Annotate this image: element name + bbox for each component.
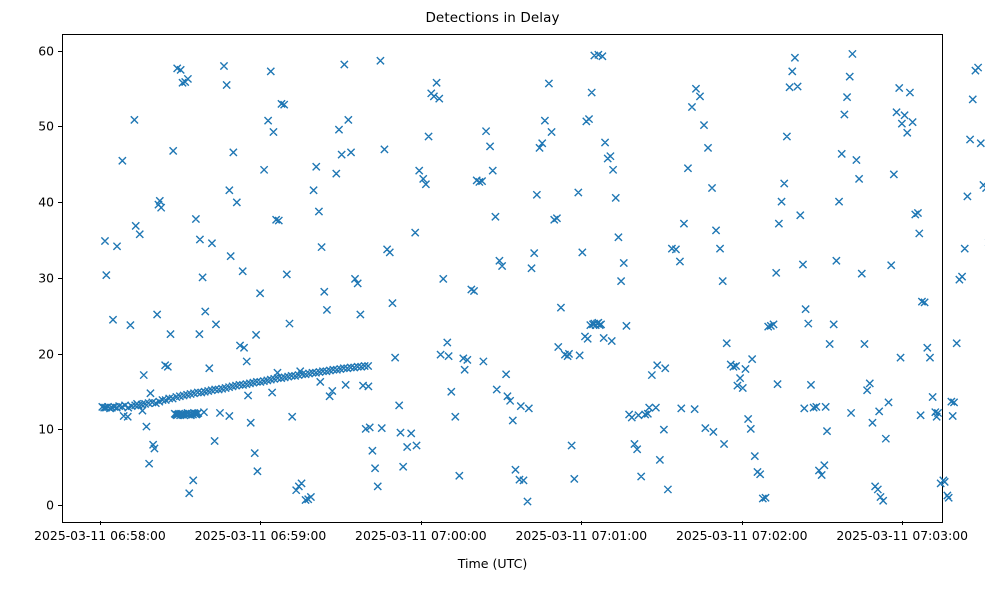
- x-tick-label: 2025-03-11 07:01:00: [516, 528, 648, 543]
- y-tick-label: 60: [10, 43, 54, 58]
- x-tick-label: 2025-03-11 07:02:00: [676, 528, 808, 543]
- x-tick-mark: [260, 521, 261, 525]
- y-tick-mark: [58, 126, 62, 127]
- y-tick-label: 10: [10, 422, 54, 437]
- x-tick-mark: [581, 521, 582, 525]
- x-tick-mark: [100, 521, 101, 525]
- y-tick-mark: [58, 51, 62, 52]
- y-tick-mark: [58, 429, 62, 430]
- scatter-points-layer: [63, 35, 942, 522]
- y-tick-label: 40: [10, 195, 54, 210]
- y-tick-mark: [58, 505, 62, 506]
- x-tick-mark: [742, 521, 743, 525]
- y-tick-mark: [58, 354, 62, 355]
- x-tick-label: 2025-03-11 07:03:00: [836, 528, 968, 543]
- x-tick-mark: [421, 521, 422, 525]
- x-tick-label: 2025-03-11 06:59:00: [195, 528, 327, 543]
- y-tick-label: 30: [10, 270, 54, 285]
- y-tick-label: 20: [10, 346, 54, 361]
- y-tick-label: 50: [10, 119, 54, 134]
- x-tick-label: 2025-03-11 06:58:00: [34, 528, 166, 543]
- y-tick-mark: [58, 202, 62, 203]
- matplotlib-figure: Detections in Delay 0102030405060 2025-0…: [0, 0, 985, 590]
- x-tick-mark: [902, 521, 903, 525]
- y-tick-label: 0: [10, 498, 54, 513]
- y-tick-mark: [58, 278, 62, 279]
- page-title: Detections in Delay: [0, 10, 985, 26]
- plot-area: [62, 34, 943, 523]
- x-tick-label: 2025-03-11 07:00:00: [355, 528, 487, 543]
- x-axis-label: Time (UTC): [0, 556, 985, 571]
